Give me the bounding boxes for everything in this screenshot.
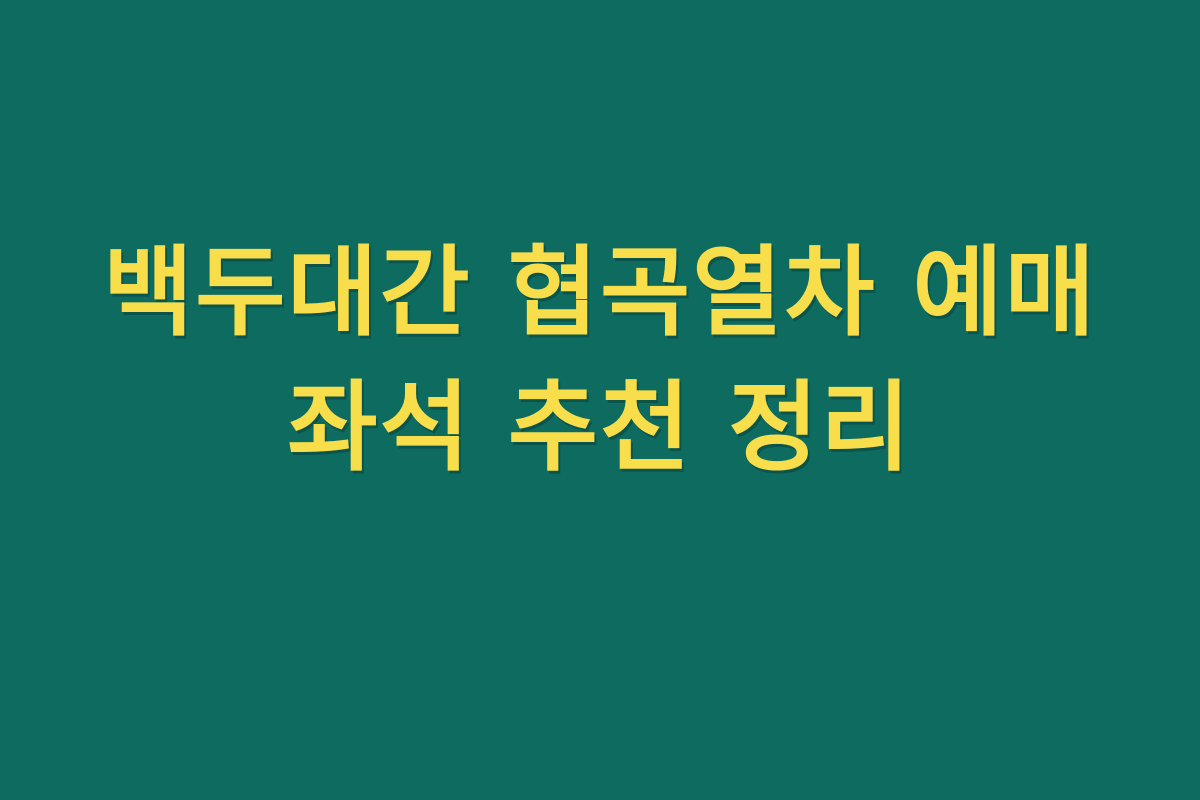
banner-background: 백두대간 협곡열차 예매 좌석 추천 정리: [0, 0, 1200, 800]
title-line-1: 백두대간 협곡열차 예매: [0, 226, 1200, 361]
title-line-2: 좌석 추천 정리: [0, 361, 1200, 496]
title-block: 백두대간 협곡열차 예매 좌석 추천 정리: [0, 226, 1200, 496]
